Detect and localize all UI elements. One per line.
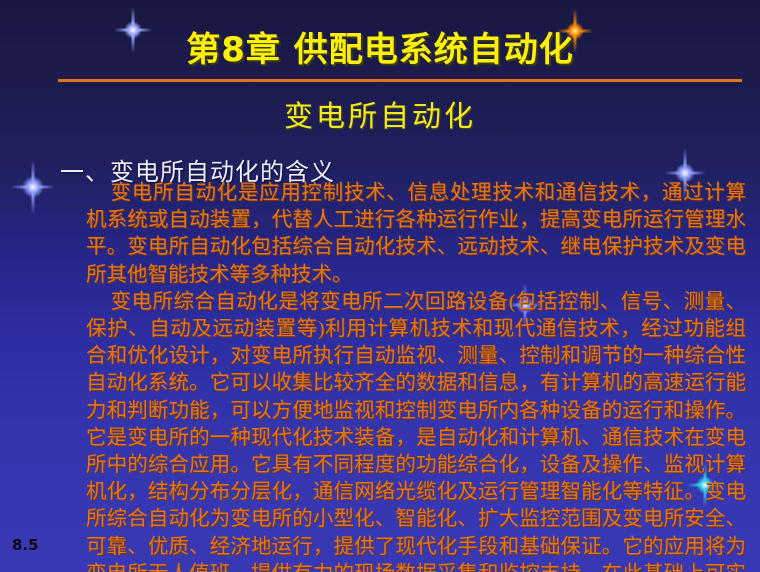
body-paragraph: 变电所自动化是应用控制技术、信息处理技术和通信技术，通过计算机系统或自动装置，代… xyxy=(86,180,746,289)
page-number: 8.5 xyxy=(12,536,39,554)
title-divider-rule xyxy=(58,79,742,82)
slide-subtitle: 变电所自动化 xyxy=(0,93,760,135)
sparkle-body-left-icon xyxy=(6,160,60,214)
presentation-slide: 第8章 供配电系统自动化 变电所自动化 一、变电所自动化的含义 变电所自动化是应… xyxy=(0,0,760,572)
body-paragraphs: 变电所自动化是应用控制技术、信息处理技术和通信技术，通过计算机系统或自动装置，代… xyxy=(86,180,746,572)
slide-title: 第8章 供配电系统自动化 xyxy=(0,22,760,71)
body-paragraph: 变电所综合自动化是将变电所二次回路设备(包括控制、信号、测量、保护、自动及远动装… xyxy=(86,289,746,572)
